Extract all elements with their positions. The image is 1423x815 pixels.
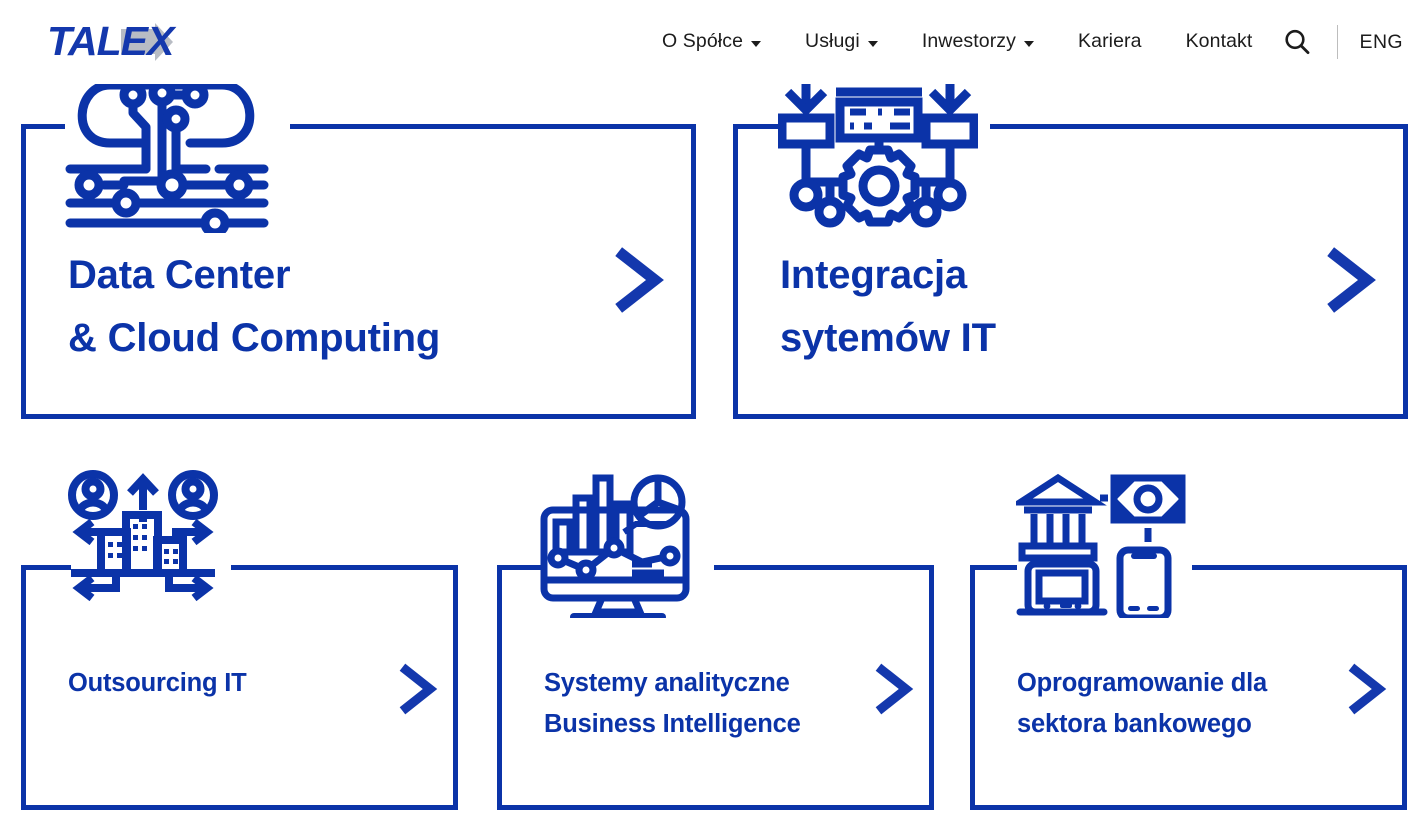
card-title-line2: sektora bankowego — [1017, 704, 1347, 745]
chevron-down-icon — [868, 41, 878, 47]
talex-logo[interactable]: TALEX — [47, 19, 197, 65]
card-title: Integracja sytemów IT — [780, 244, 1300, 370]
chevron-right-icon — [1345, 663, 1389, 715]
border-notch — [780, 120, 990, 134]
card-title: Outsourcing IT — [68, 663, 378, 704]
card-arrow[interactable] — [396, 663, 440, 715]
chevron-down-icon — [751, 41, 761, 47]
service-card-outsourcing[interactable]: Outsourcing IT — [21, 565, 458, 810]
card-arrow[interactable] — [611, 247, 667, 313]
card-title-line2: sytemów IT — [780, 307, 1300, 370]
services-grid: Data Center & Cloud Computing — [0, 0, 1423, 815]
chevron-right-icon — [872, 663, 916, 715]
chevron-right-icon — [611, 247, 667, 313]
card-title-line1: Outsourcing IT — [68, 663, 378, 704]
nav-item-inwestorzy[interactable]: Inwestorzy — [900, 32, 1056, 52]
logo-wordmark: TALEX — [47, 19, 177, 64]
card-title: Oprogramowanie dla sektora bankowego — [1017, 663, 1347, 745]
card-title: Systemy analityczne Business Intelligenc… — [544, 663, 874, 745]
border-notch — [544, 561, 714, 575]
border-notch — [1017, 561, 1192, 575]
header-utilities: ENG — [1275, 0, 1423, 84]
chevron-right-icon — [1323, 247, 1379, 313]
search-icon — [1282, 27, 1312, 57]
nav-label: Inwestorzy — [922, 32, 1016, 52]
search-button[interactable] — [1275, 20, 1319, 64]
nav-label: Usługi — [805, 32, 860, 52]
service-card-data-center[interactable]: Data Center & Cloud Computing — [21, 124, 696, 419]
card-title-line1: Systemy analityczne — [544, 663, 874, 704]
nav-item-uslugi[interactable]: Usługi — [783, 32, 900, 52]
nav-item-o-spolce[interactable]: O Spółce — [640, 32, 783, 52]
nav-item-kariera[interactable]: Kariera — [1056, 32, 1164, 52]
card-arrow[interactable] — [1323, 247, 1379, 313]
header-divider — [1337, 25, 1338, 59]
card-arrow[interactable] — [1345, 663, 1389, 715]
card-arrow[interactable] — [872, 663, 916, 715]
nav-label: Kontakt — [1186, 32, 1253, 52]
card-title-line1: Oprogramowanie dla — [1017, 663, 1347, 704]
card-title-line2: Business Intelligence — [544, 704, 874, 745]
service-card-business-intelligence[interactable]: Systemy analityczne Business Intelligenc… — [497, 565, 934, 810]
service-card-integracja[interactable]: Integracja sytemów IT — [733, 124, 1408, 419]
site-header: TALEX O Spółce Usługi Inwestorzy Kariera… — [0, 0, 1423, 84]
card-title-line1: Integracja — [780, 244, 1300, 307]
chevron-right-icon — [396, 663, 440, 715]
card-title-line2: & Cloud Computing — [68, 307, 588, 370]
service-card-banking-software[interactable]: Oprogramowanie dla sektora bankowego — [970, 565, 1407, 810]
card-title: Data Center & Cloud Computing — [68, 244, 588, 370]
chevron-down-icon — [1024, 41, 1034, 47]
card-title-line1: Data Center — [68, 244, 588, 307]
border-notch — [71, 561, 231, 575]
language-switch-eng[interactable]: ENG — [1360, 31, 1423, 54]
border-notch — [65, 120, 290, 134]
nav-label: Kariera — [1078, 32, 1142, 52]
nav-item-kontakt[interactable]: Kontakt — [1164, 32, 1275, 52]
nav-label: O Spółce — [662, 32, 743, 52]
main-navigation: O Spółce Usługi Inwestorzy Kariera Konta… — [640, 0, 1274, 84]
